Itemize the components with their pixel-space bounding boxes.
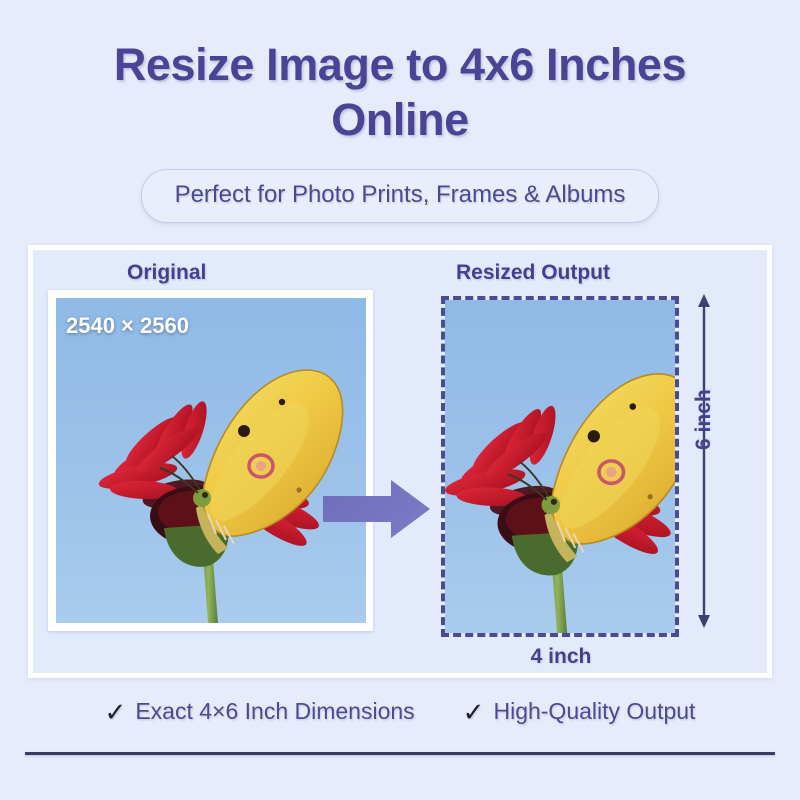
width-measure-label-wrap: 4 inch [441,645,681,669]
bottom-divider [25,752,775,755]
vertical-double-arrow-icon [688,290,720,632]
original-photo [56,298,366,623]
feature-label: Exact 4×6 Inch Dimensions [135,698,414,725]
subtitle-text: Perfect for Photo Prints, Frames & Album… [175,181,626,208]
feature-label: High-Quality Output [493,698,695,725]
check-icon: ✓ [463,699,485,725]
subtitle-pill-container: Perfect for Photo Prints, Frames & Album… [0,169,800,223]
original-panel-label: Original [127,261,206,285]
resized-photo [445,300,675,633]
width-measure-label: 4 inch [523,645,600,668]
height-measure-label: 6 inch [692,414,716,450]
butterfly-flower-image-original [56,298,366,623]
right-arrow-icon [323,478,431,540]
transform-arrow [323,478,431,540]
butterfly-flower-image-resized [445,300,675,633]
page-title-line-2: Online [331,94,469,145]
feature-item: ✓ Exact 4×6 Inch Dimensions [105,698,415,725]
subtitle-badge: Perfect for Photo Prints, Frames & Album… [141,169,660,223]
resized-panel-label: Resized Output [456,261,610,285]
resized-output-box [441,296,679,637]
page-title: Resize Image to 4x6 Inches Online [0,38,800,148]
original-dimensions-badge: 2540 × 2560 [66,313,189,339]
height-measure-arrow [688,290,720,632]
check-icon: ✓ [105,699,127,725]
page-title-line-1: Resize Image to 4x6 Inches [114,39,686,90]
feature-item: ✓ High-Quality Output [463,698,696,725]
features-row: ✓ Exact 4×6 Inch Dimensions ✓ High-Quali… [0,698,800,725]
